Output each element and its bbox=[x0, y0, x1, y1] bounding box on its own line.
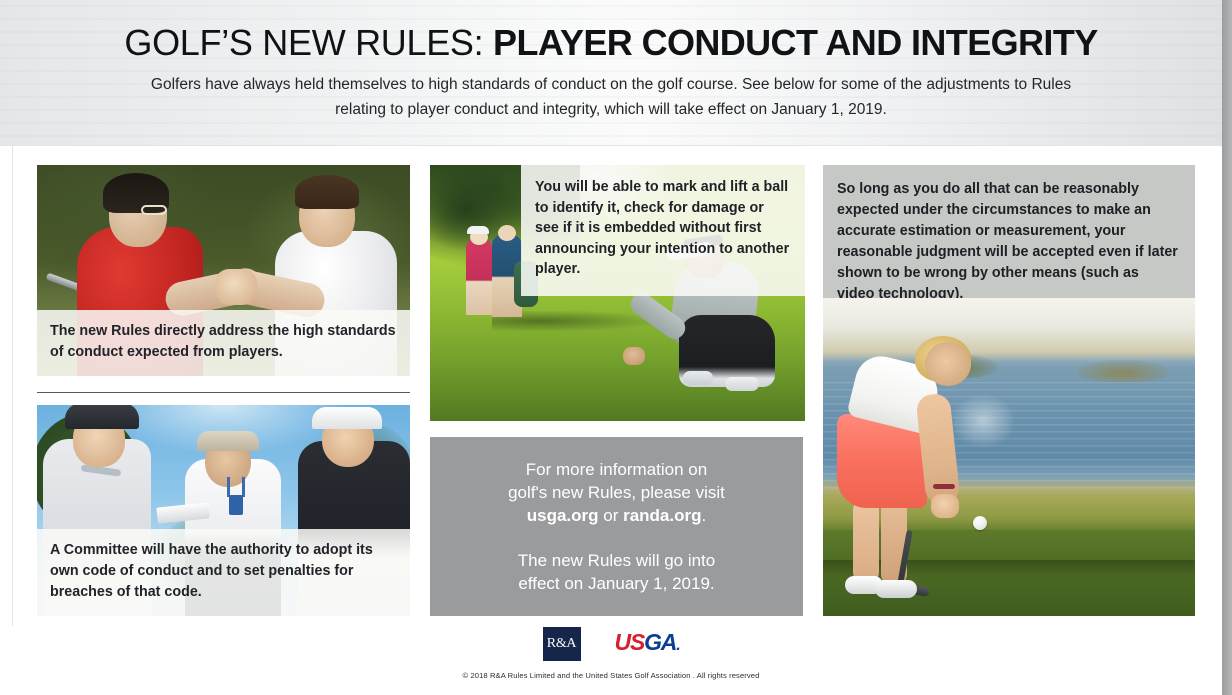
info-links-line: usga.org or randa.org. bbox=[508, 504, 725, 527]
island-trees-right-icon bbox=[1077, 360, 1169, 382]
golfer-hand bbox=[931, 494, 959, 518]
player-one-cap bbox=[65, 405, 139, 429]
page-title: GOLF’S NEW RULES: PLAYER CONDUCT AND INT… bbox=[0, 22, 1222, 64]
right-column: So long as you do all that can be reason… bbox=[823, 165, 1195, 616]
info-card-block-2: The new Rules will go into effect on Jan… bbox=[518, 549, 715, 595]
header-content: GOLF’S NEW RULES: PLAYER CONDUCT AND INT… bbox=[0, 22, 1222, 122]
link-separator: or bbox=[599, 506, 624, 525]
main-content: The new Rules directly address the high … bbox=[37, 165, 1195, 616]
golfer-head bbox=[925, 342, 971, 386]
left-vertical-rule bbox=[12, 146, 13, 695]
water-glint bbox=[951, 394, 1015, 448]
mark-and-lift-callout: You will be able to mark and lift a ball… bbox=[521, 165, 805, 296]
panel-divider bbox=[37, 392, 410, 393]
page-title-bold: PLAYER CONDUCT AND INTEGRITY bbox=[493, 22, 1098, 63]
page-footer: R&A USGA. © 2018 R&A Rules Limited and t… bbox=[0, 626, 1222, 695]
usga-link[interactable]: usga.org bbox=[527, 506, 599, 525]
copyright-notice: © 2018 R&A Rules Limited and the United … bbox=[0, 670, 1222, 681]
background-golfer-pink-cap bbox=[467, 226, 489, 234]
crouching-golfer-shoe-left bbox=[683, 371, 713, 385]
handshake-caption: The new Rules directly address the high … bbox=[37, 310, 410, 376]
info-line-2: golf's new Rules, please visit bbox=[508, 481, 725, 504]
info-line-4: The new Rules will go into bbox=[518, 549, 715, 572]
usga-logo-us: US bbox=[615, 629, 645, 655]
randa-link[interactable]: randa.org bbox=[623, 506, 701, 525]
fairway-photo-panel: You will be able to mark and lift a ball… bbox=[430, 165, 805, 421]
info-card-block-1: For more information on golf's new Rules… bbox=[508, 458, 725, 527]
crouching-golfer-hand bbox=[623, 347, 645, 365]
info-line-5: effect on January 1, 2019. bbox=[518, 572, 715, 595]
middle-column: You will be able to mark and lift a ball… bbox=[430, 165, 803, 616]
golf-ball-icon bbox=[973, 516, 987, 530]
wrist-band bbox=[933, 484, 955, 489]
page-header: GOLF’S NEW RULES: PLAYER CONDUCT AND INT… bbox=[0, 0, 1222, 146]
handshake-hands bbox=[215, 269, 257, 305]
player-two-cap bbox=[312, 407, 382, 429]
logo-row: R&A USGA. bbox=[0, 626, 1222, 662]
glasses-icon bbox=[141, 205, 167, 215]
background-caddie-head bbox=[498, 225, 516, 241]
usga-logo: USGA. bbox=[615, 625, 680, 663]
page-title-regular: GOLF’S NEW RULES: bbox=[124, 22, 493, 63]
infographic-page: GOLF’S NEW RULES: PLAYER CONDUCT AND INT… bbox=[0, 0, 1232, 695]
background-golfer-pink-body bbox=[466, 239, 492, 315]
randa-logo: R&A bbox=[543, 627, 581, 661]
crouching-golfer-shoe-right bbox=[725, 377, 759, 391]
page-scrollbar-edge[interactable] bbox=[1222, 0, 1232, 695]
golfer-shoe-front bbox=[875, 580, 917, 598]
usga-logo-dot: . bbox=[676, 637, 679, 654]
info-line-1: For more information on bbox=[508, 458, 725, 481]
lanyard-icon bbox=[227, 477, 245, 497]
link-period: . bbox=[702, 506, 707, 525]
committee-caption: A Committee will have the authority to a… bbox=[37, 529, 410, 616]
more-information-card: For more information on golf's new Rules… bbox=[430, 437, 803, 616]
page-subtitle: Golfers have always held themselves to h… bbox=[131, 72, 1091, 122]
white-shirt-golfer-hair bbox=[295, 175, 359, 209]
usga-logo-ga: GA bbox=[644, 629, 676, 655]
committee-photo-panel: A Committee will have the authority to a… bbox=[37, 405, 410, 616]
golfer-leg-back bbox=[853, 498, 879, 584]
official-badge bbox=[229, 495, 243, 515]
left-column: The new Rules directly address the high … bbox=[37, 165, 410, 616]
lake-photo-panel bbox=[823, 298, 1195, 616]
handshake-photo-panel: The new Rules directly address the high … bbox=[37, 165, 410, 376]
official-cap bbox=[197, 431, 259, 451]
